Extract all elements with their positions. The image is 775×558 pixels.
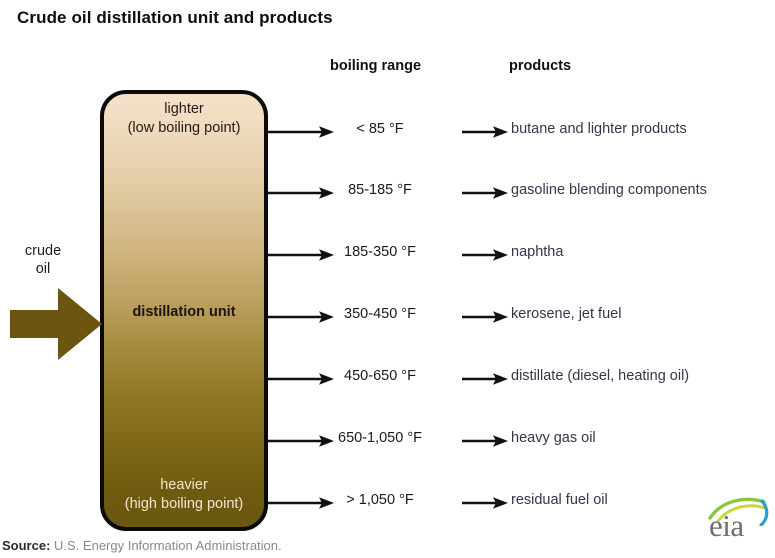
flow-row: 650-1,050 °Fheavy gas oil <box>0 430 775 452</box>
diagram-canvas: Crude oil distillation unit and products… <box>0 0 775 558</box>
column-header-products: products <box>509 58 571 74</box>
boiling-range-value: 185-350 °F <box>300 244 460 260</box>
arrow-right-icon-range-to-product <box>462 495 508 511</box>
flow-row: 185-350 °Fnaphtha <box>0 244 775 266</box>
flow-row: 85-185 °Fgasoline blending components <box>0 182 775 204</box>
boiling-range-value: 350-450 °F <box>300 306 460 322</box>
column-header-boiling-range: boiling range <box>330 58 421 74</box>
product-value: kerosene, jet fuel <box>511 306 621 322</box>
boiling-range-value: 450-650 °F <box>300 368 460 384</box>
column-bottom-label-line1: heavier <box>160 477 208 493</box>
boiling-range-value: > 1,050 °F <box>300 492 460 508</box>
product-value: naphtha <box>511 244 563 260</box>
boiling-range-value: 650-1,050 °F <box>300 430 460 446</box>
eia-logo: eia <box>706 496 770 542</box>
column-top-label-line1: lighter <box>164 101 204 117</box>
flow-row: 350-450 °Fkerosene, jet fuel <box>0 306 775 328</box>
eia-logo-text: eia <box>709 510 744 541</box>
source-text: U.S. Energy Information Administration. <box>50 538 281 553</box>
source-label: Source: <box>2 538 50 553</box>
arrow-right-icon-range-to-product <box>462 309 508 325</box>
product-value: gasoline blending components <box>511 182 707 198</box>
boiling-range-value: < 85 °F <box>300 121 460 137</box>
page-title: Crude oil distillation unit and products <box>17 8 333 28</box>
product-value: heavy gas oil <box>511 430 596 446</box>
product-value: residual fuel oil <box>511 492 608 508</box>
flow-row: < 85 °Fbutane and lighter products <box>0 121 775 143</box>
boiling-range-value: 85-185 °F <box>300 182 460 198</box>
arrow-right-icon-range-to-product <box>462 371 508 387</box>
source-note: Source: U.S. Energy Information Administ… <box>2 538 282 553</box>
arrow-right-icon-range-to-product <box>462 124 508 140</box>
flow-row: > 1,050 °Fresidual fuel oil <box>0 492 775 514</box>
arrow-right-icon-range-to-product <box>462 185 508 201</box>
product-value: butane and lighter products <box>511 121 687 137</box>
flow-row: 450-650 °Fdistillate (diesel, heating oi… <box>0 368 775 390</box>
arrow-right-icon-range-to-product <box>462 433 508 449</box>
product-value: distillate (diesel, heating oil) <box>511 368 689 384</box>
arrow-right-icon-range-to-product <box>462 247 508 263</box>
